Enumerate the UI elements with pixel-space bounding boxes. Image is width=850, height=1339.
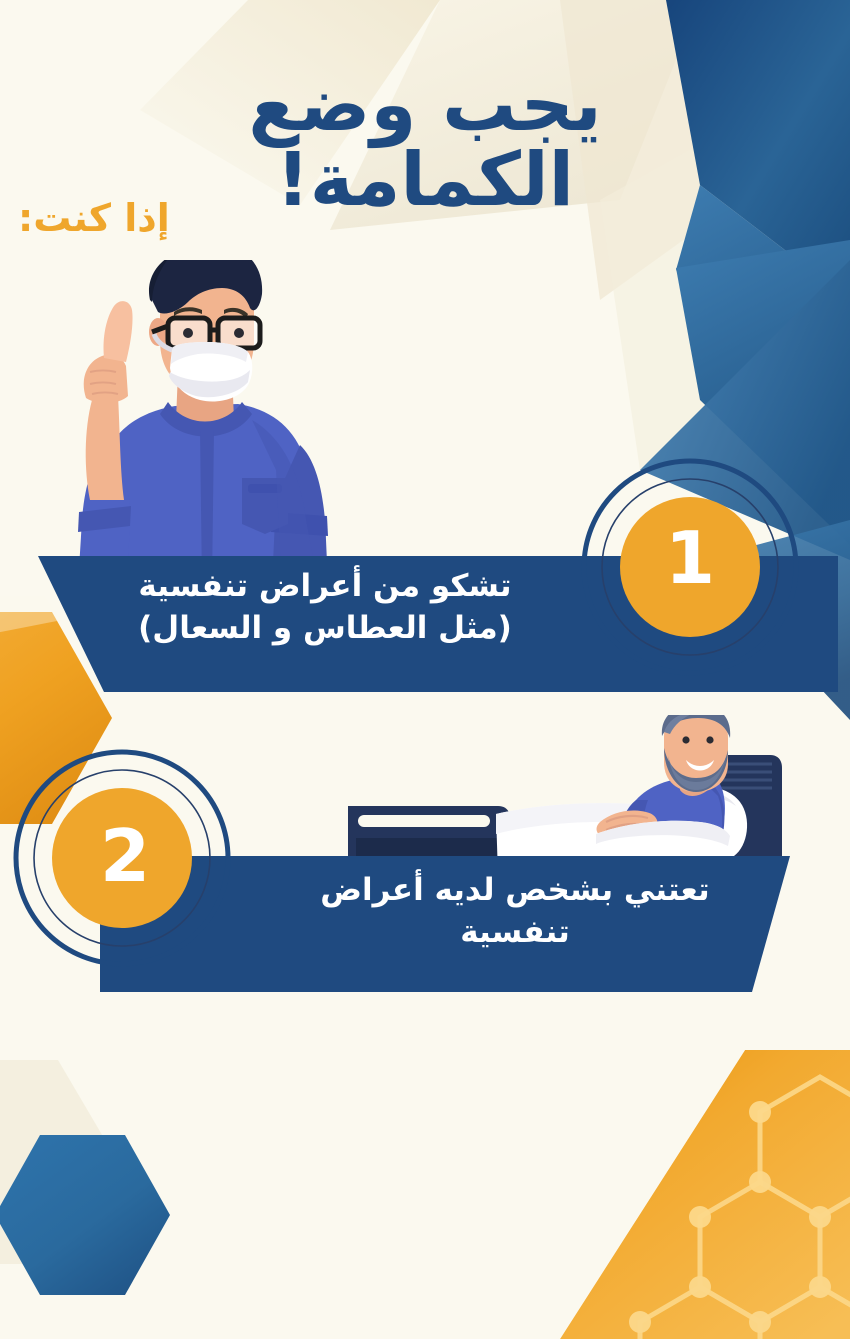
poster-canvas: يجب وضع الكمامة! إذا كنت: <box>0 0 850 1339</box>
title-subtitle: إذا كنت: <box>18 196 170 240</box>
badge-1-circle[interactable] <box>620 497 760 637</box>
badge-2-circle[interactable] <box>52 788 192 928</box>
